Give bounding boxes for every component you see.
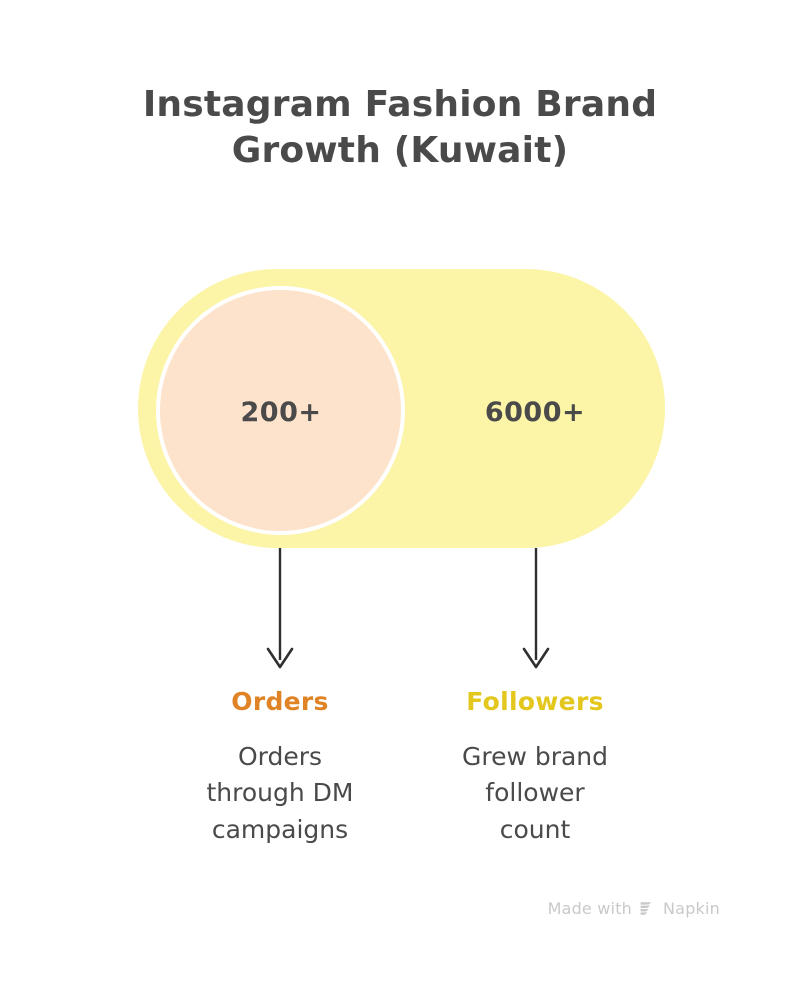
legend-item-followers: Followers Grew brand follower count bbox=[420, 687, 650, 848]
legend-description-orders: Orders through DM campaigns bbox=[165, 739, 395, 848]
followers-value-label: 6000+ bbox=[435, 397, 635, 428]
napkin-watermark: Made with Napkin bbox=[500, 895, 720, 921]
legend-item-orders: Orders Orders through DM campaigns bbox=[165, 687, 395, 848]
page-title: Instagram Fashion Brand Growth (Kuwait) bbox=[0, 82, 800, 174]
followers-connector-arrow-icon bbox=[516, 548, 556, 672]
legend-description-followers: Grew brand follower count bbox=[420, 739, 650, 848]
legend-heading-followers: Followers bbox=[420, 687, 650, 717]
legend-heading-orders: Orders bbox=[165, 687, 395, 717]
watermark-brand: Napkin bbox=[663, 899, 720, 918]
watermark-text: Made with bbox=[548, 899, 632, 918]
infographic-canvas: Instagram Fashion Brand Growth (Kuwait) … bbox=[0, 0, 800, 1000]
orders-connector-arrow-icon bbox=[260, 548, 300, 672]
orders-value-label: 200+ bbox=[181, 397, 381, 428]
napkin-logo-icon bbox=[639, 900, 656, 917]
